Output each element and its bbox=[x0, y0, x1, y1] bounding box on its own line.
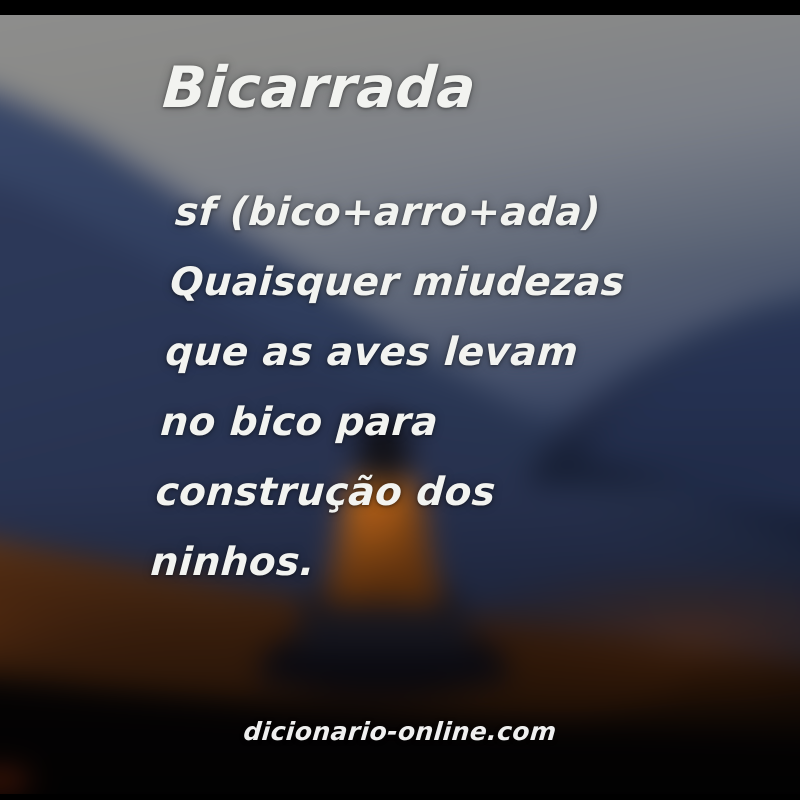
definition-line: que as aves levam bbox=[163, 318, 688, 388]
definition-line: construção dos bbox=[153, 458, 678, 528]
letterbox-bar-top bbox=[0, 0, 800, 15]
headword: Bicarrada bbox=[161, 56, 478, 120]
definition-line: sf (bico+arro+ada) bbox=[173, 178, 698, 248]
definition-line: ninhos. bbox=[148, 528, 673, 598]
definition-line: no bico para bbox=[158, 388, 683, 458]
dictionary-image-card: Bicarrada sf (bico+arro+ada) Quaisquer m… bbox=[0, 0, 800, 800]
site-watermark: dicionario-online.com bbox=[0, 716, 800, 748]
definition-line: Quaisquer miudezas bbox=[168, 248, 693, 318]
letterbox-bar-bottom bbox=[0, 794, 800, 800]
definition-block: sf (bico+arro+ada) Quaisquer miudezas qu… bbox=[148, 178, 697, 598]
text-overlay: Bicarrada sf (bico+arro+ada) Quaisquer m… bbox=[0, 0, 800, 800]
